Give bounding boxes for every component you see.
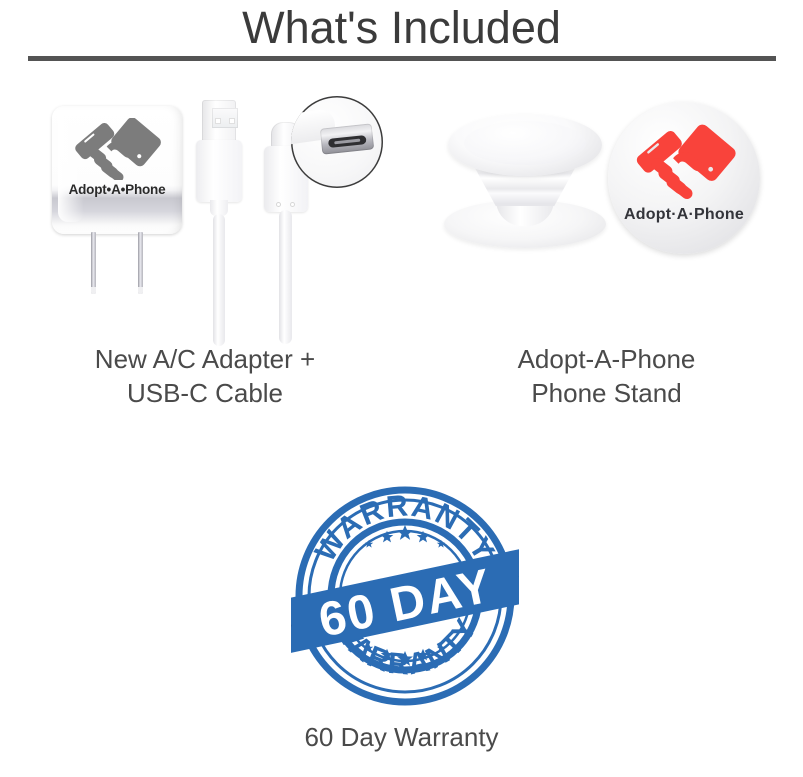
handshake-logo-icon	[69, 118, 165, 180]
charger-body: Adopt•A•Phone	[52, 106, 182, 234]
usb-c-magnified-inset	[291, 96, 383, 188]
popsocket-disc-icon: Adopt·A·Phone	[608, 102, 760, 254]
page-title: What's Included	[0, 2, 803, 54]
caption-line-1: Adopt-A-Phone	[410, 342, 803, 376]
disc-brand-text: Adopt·A·Phone	[608, 206, 760, 224]
popsocket-top	[448, 114, 602, 176]
warranty-caption: 60 Day Warranty	[0, 720, 803, 754]
whats-included-page: What's Included	[0, 0, 803, 777]
usb-a-hole	[229, 118, 235, 124]
ac-adapter-artwork: Adopt•A•Phone	[0, 80, 410, 340]
phone-stand-artwork: Adopt·A·Phone	[410, 80, 803, 340]
product-row: Adopt•A•Phone	[0, 80, 803, 410]
caption-line-2: USB-C Cable	[0, 376, 410, 410]
charger-prong-right	[138, 232, 143, 294]
product-card-ac-adapter[interactable]: Adopt•A•Phone	[0, 80, 410, 410]
product-card-phone-stand[interactable]: Adopt·A·Phone Adopt-A-Phone Phone Stand	[410, 80, 803, 410]
product-caption-phone-stand: Adopt-A-Phone Phone Stand	[410, 342, 803, 410]
usb-a-connector-icon	[196, 100, 242, 340]
page-header: What's Included	[0, 0, 803, 70]
popsocket-grip-icon	[440, 114, 610, 259]
inset-usb-c-mouth	[328, 135, 367, 148]
charger-brand-text: Adopt•A•Phone	[52, 182, 182, 197]
usb-a-cord	[213, 214, 225, 346]
ac-adapter-icon: Adopt•A•Phone	[52, 106, 182, 266]
product-caption-ac-adapter: New A/C Adapter + USB-C Cable	[0, 342, 410, 410]
handshake-logo-icon	[630, 122, 740, 200]
usb-a-shell	[196, 140, 242, 202]
inset-usb-c-plug	[320, 123, 374, 154]
warranty-stamp-icon: WARRANTY WARRANTY	[291, 482, 519, 710]
popsocket-top-inner	[464, 121, 586, 165]
warranty-banner: 60 DAY	[291, 548, 519, 657]
caption-line-1: New A/C Adapter +	[0, 342, 410, 376]
usb-c-cord	[279, 210, 292, 344]
usb-c-dot	[276, 202, 281, 207]
title-divider	[28, 56, 776, 61]
warranty-section: WARRANTY WARRANTY	[0, 470, 803, 770]
caption-line-2: Phone Stand	[410, 376, 803, 410]
usb-c-dot	[290, 202, 295, 207]
usb-a-hole	[215, 118, 221, 124]
charger-prong-left	[91, 232, 96, 294]
usb-a-tip	[202, 100, 236, 142]
